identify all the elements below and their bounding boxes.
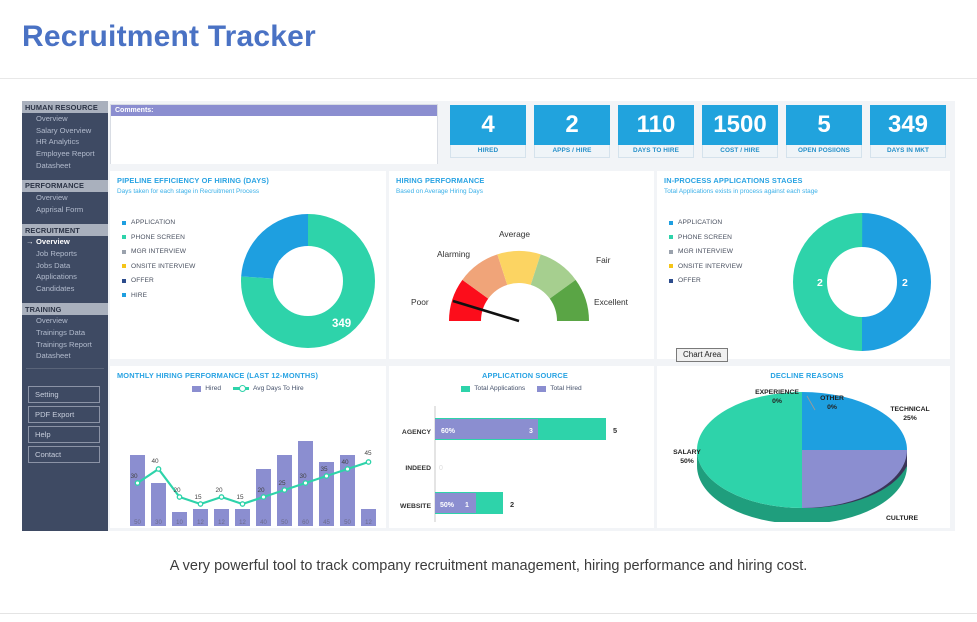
- sidebar-item-salary-overview[interactable]: Salary Overview: [22, 125, 108, 137]
- panel-performance-subtitle: Based on Average Hiring Days: [389, 185, 654, 195]
- legend-label-hired: Hired: [205, 385, 221, 392]
- svg-text:45: 45: [364, 450, 372, 457]
- pipeline-value-110: 110: [278, 259, 297, 271]
- panel-pipeline-title: PIPELINE EFFICIENCY OF HIRING (DAYS): [110, 171, 386, 185]
- legend-label-total-hired: Total Hired: [550, 385, 582, 392]
- svg-text:30: 30: [130, 473, 138, 480]
- legend-label-offer: OFFER: [678, 277, 701, 284]
- sidebar-item-trainings-data[interactable]: Trainings Data: [22, 327, 108, 339]
- legend-label-offer: OFFER: [131, 277, 154, 284]
- panel-monthly-hiring: MONTHLY HIRING PERFORMANCE (LAST 12-MONT…: [110, 366, 386, 528]
- sidebar-item-employee-report[interactable]: Employee Report: [22, 148, 108, 160]
- legend-label-mgr-interview: MGR INTERVIEW: [131, 248, 186, 255]
- pie-label-experience: EXPERIENCE: [755, 389, 799, 396]
- panel-application-source: APPLICATION SOURCE Total Applications To…: [389, 366, 654, 528]
- legend-swatch-hired: [192, 386, 201, 392]
- svg-text:25: 25: [278, 480, 286, 487]
- legend-label-onsite-interview: ONSITE INTERVIEW: [678, 263, 743, 270]
- contact-button[interactable]: Contact: [28, 446, 100, 463]
- svg-text:12: 12: [239, 520, 246, 526]
- sidebar-item-trainings-report[interactable]: Trainings Report: [22, 338, 108, 350]
- sidebar-item-apprisal-form[interactable]: Apprisal Form: [22, 204, 108, 216]
- legend-label-onsite-interview: ONSITE INTERVIEW: [131, 263, 196, 270]
- sidebar-item-hr-datasheet[interactable]: Datasheet: [22, 159, 108, 171]
- svg-text:15: 15: [194, 494, 202, 501]
- kpi-apps-per-hire-label: APPS / HIRE: [534, 145, 610, 158]
- pie-label-salary: SALARY: [673, 449, 701, 456]
- svg-text:20: 20: [173, 487, 181, 494]
- svg-text:40: 40: [151, 458, 159, 465]
- kpi-apps-per-hire: 2 APPS / HIRE: [534, 105, 610, 165]
- legend-swatch-total-applications: [461, 386, 470, 392]
- sidebar-item-hr-analytics[interactable]: HR Analytics: [22, 136, 108, 148]
- monthly-combo-chart: 5030 1012 1212 4050 6045 5012: [110, 404, 386, 528]
- kpi-cost-per-hire: 1500 COST / HIRE: [702, 105, 778, 165]
- footer-divider: [0, 613, 977, 614]
- kpi-days-in-mkt-value: 349: [870, 105, 946, 145]
- monthly-legend: Hired Avg Days To Hire: [110, 385, 386, 392]
- application-source-chart: AGENCY 60% 3 5 INDEED 0 WEBSITE 50% 1 2: [389, 400, 654, 528]
- kpi-open-positions: 5 OPEN POSIIONS: [786, 105, 862, 165]
- legend-label-hire: HIRE: [131, 292, 147, 299]
- legend-swatch-mgr-interview: [669, 250, 673, 254]
- source-category-website: WEBSITE: [400, 503, 431, 510]
- legend-item-application: APPLICATION: [122, 219, 196, 226]
- inprocess-legend: APPLICATION PHONE SCREEN MGR INTERVIEW O…: [669, 219, 743, 292]
- legend-item-mgr-interview: MGR INTERVIEW: [122, 248, 196, 255]
- gauge-label-poor: Poor: [411, 297, 429, 307]
- pie-slice-culture: [802, 450, 907, 508]
- inprocess-value-left: 2: [817, 277, 823, 289]
- monthly-bars: [130, 441, 376, 526]
- source-legend: Total Applications Total Hired: [389, 385, 654, 392]
- legend-swatch-mgr-interview: [122, 250, 126, 254]
- legend-item-offer: OFFER: [669, 277, 743, 284]
- gauge-label-average: Average: [499, 229, 530, 239]
- panel-inprocess-stages: IN-PROCESS APPLICATIONS STAGES Total App…: [657, 171, 950, 359]
- chart-area-tooltip: Chart Area: [676, 348, 728, 362]
- legend-swatch-total-hired: [537, 386, 546, 392]
- legend-item-offer: OFFER: [122, 277, 196, 284]
- legend-item-hired: Hired: [192, 385, 221, 392]
- sidebar-item-jobs-data[interactable]: Jobs Data: [22, 259, 108, 271]
- svg-text:45: 45: [323, 520, 330, 526]
- pipeline-legend: APPLICATION PHONE SCREEN MGR INTERVIEW O…: [122, 219, 196, 306]
- svg-text:12: 12: [365, 520, 372, 526]
- gauge-label-fair: Fair: [596, 255, 611, 265]
- footer-caption: A very powerful tool to track company re…: [0, 558, 977, 574]
- kpi-hired-value: 4: [450, 105, 526, 145]
- svg-text:30: 30: [155, 520, 162, 526]
- kpi-hired: 4 HIRED: [450, 105, 526, 165]
- source-total-website: 2: [510, 500, 514, 509]
- panel-decline-title: DECLINE REASONS: [657, 366, 950, 380]
- monthly-trend-points: [135, 460, 370, 506]
- inprocess-value-right: 2: [902, 277, 908, 289]
- sidebar-item-recruitment-overview[interactable]: Overview: [22, 236, 108, 248]
- sidebar-item-performance-overview[interactable]: Overview: [22, 192, 108, 204]
- pipeline-value-349: 349: [332, 318, 351, 330]
- legend-label-avg-days: Avg Days To Hire: [253, 385, 304, 392]
- panel-pipeline-efficiency: PIPELINE EFFICIENCY OF HIRING (DAYS) Day…: [110, 171, 386, 359]
- sidebar-group-human-resource: HUMAN RESOURCE Overview Salary Overview …: [22, 101, 108, 171]
- pie-pct-salary: 50%: [680, 458, 694, 465]
- kpi-apps-per-hire-value: 2: [534, 105, 610, 145]
- legend-item-total-hired: Total Hired: [537, 385, 582, 392]
- sidebar-heading-recruitment: RECRUITMENT: [22, 224, 108, 236]
- legend-item-onsite-interview: ONSITE INTERVIEW: [122, 263, 196, 270]
- legend-item-hire: HIRE: [122, 292, 196, 299]
- legend-swatch-phone-screen: [122, 235, 126, 239]
- sidebar-item-hr-overview[interactable]: Overview: [22, 113, 108, 125]
- pie-pct-other: 0%: [827, 404, 837, 411]
- svg-text:40: 40: [260, 520, 267, 526]
- source-pct-website: 50%: [440, 502, 455, 509]
- svg-text:20: 20: [215, 487, 223, 494]
- pipeline-donut-chart: 110 349: [228, 209, 388, 354]
- sidebar-spacer-1: [22, 171, 108, 180]
- pie-pct-technical: 25%: [903, 415, 917, 422]
- legend-swatch-application: [669, 221, 673, 225]
- sidebar-heading-human-resource: HUMAN RESOURCE: [22, 101, 108, 113]
- panel-hiring-performance: HIRING PERFORMANCE Based on Average Hiri…: [389, 171, 654, 359]
- legend-label-total-applications: Total Applications: [474, 385, 525, 392]
- legend-swatch-application: [122, 221, 126, 225]
- pie-pct-experience: 0%: [772, 398, 782, 405]
- legend-swatch-hire: [122, 293, 126, 297]
- gauge-label-excellent: Excellent: [594, 297, 629, 307]
- kpi-days-to-hire-value: 110: [618, 105, 694, 145]
- svg-text:50: 50: [134, 520, 141, 526]
- source-hired-website: 1: [465, 502, 469, 509]
- panel-performance-title: HIRING PERFORMANCE: [389, 171, 654, 185]
- pie-label-culture: CULTURE: [886, 515, 918, 522]
- kpi-hired-label: HIRED: [450, 145, 526, 158]
- kpi-cost-per-hire-value: 1500: [702, 105, 778, 145]
- kpi-days-in-mkt: 349 DAYS IN MKT: [870, 105, 946, 165]
- svg-text:50: 50: [281, 520, 288, 526]
- sidebar-spacer-3: [22, 294, 108, 303]
- comments-input[interactable]: [111, 116, 437, 164]
- panel-inprocess-subtitle: Total Applications exists in process aga…: [657, 185, 950, 195]
- legend-label-application: APPLICATION: [678, 219, 722, 226]
- kpi-open-positions-label: OPEN POSIIONS: [786, 145, 862, 158]
- pdf-export-button[interactable]: PDF Export: [28, 406, 100, 423]
- kpi-days-to-hire: 110 DAYS TO HIRE: [618, 105, 694, 165]
- sidebar-group-training: TRAINING Overview Trainings Data Trainin…: [22, 303, 108, 361]
- hiring-performance-gauge: Poor Alarming Average Fair Excellent: [389, 201, 654, 351]
- inprocess-donut-chart: 2 2: [777, 207, 947, 357]
- svg-text:20: 20: [257, 487, 265, 494]
- source-category-indeed: INDEED: [405, 465, 431, 472]
- source-total-agency: 5: [613, 426, 617, 435]
- panel-pipeline-subtitle: Days taken for each stage in Recruitment…: [110, 185, 386, 195]
- pie-label-other: OTHER: [820, 395, 844, 402]
- legend-item-phone-screen: PHONE SCREEN: [669, 234, 743, 241]
- kpi-cost-per-hire-label: COST / HIRE: [702, 145, 778, 158]
- sidebar-item-training-overview[interactable]: Overview: [22, 315, 108, 327]
- pie-label-technical: TECHNICAL: [890, 406, 929, 413]
- sidebar-divider: [26, 368, 104, 369]
- svg-text:12: 12: [197, 520, 204, 526]
- sidebar-item-job-reports[interactable]: Job Reports: [22, 248, 108, 260]
- kpi-row: 4 HIRED 2 APPS / HIRE 110 DAYS TO HIRE 1…: [450, 105, 950, 165]
- help-button[interactable]: Help: [28, 426, 100, 443]
- source-pct-agency: 60%: [441, 428, 456, 435]
- sidebar-group-performance: PERFORMANCE Overview Apprisal Form: [22, 180, 108, 215]
- legend-label-phone-screen: PHONE SCREEN: [131, 234, 185, 241]
- legend-item-application: APPLICATION: [669, 219, 743, 226]
- kpi-days-to-hire-label: DAYS TO HIRE: [618, 145, 694, 158]
- legend-item-mgr-interview: MGR INTERVIEW: [669, 248, 743, 255]
- legend-item-avg-days: Avg Days To Hire: [233, 385, 304, 392]
- legend-label-application: APPLICATION: [131, 219, 175, 226]
- legend-swatch-phone-screen: [669, 235, 673, 239]
- svg-text:10: 10: [176, 520, 183, 526]
- title-bar: Recruitment Tracker: [0, 0, 977, 79]
- svg-text:12: 12: [218, 520, 225, 526]
- sidebar-spacer-2: [22, 215, 108, 224]
- setting-button[interactable]: Setting: [28, 386, 100, 403]
- sidebar-heading-training: TRAINING: [22, 303, 108, 315]
- legend-swatch-avg-days: [233, 387, 249, 390]
- gauge-label-alarming: Alarming: [437, 249, 470, 259]
- legend-item-phone-screen: PHONE SCREEN: [122, 234, 196, 241]
- sidebar-item-candidates[interactable]: Candidates: [22, 283, 108, 295]
- monthly-bar-labels: 5030 1012 1212 4050 6045 5012: [134, 520, 372, 526]
- svg-text:35: 35: [320, 466, 328, 473]
- title-divider: [0, 78, 977, 79]
- legend-item-total-applications: Total Applications: [461, 385, 525, 392]
- source-total-indeed: 0: [439, 465, 443, 472]
- legend-swatch-onsite-interview: [122, 264, 126, 268]
- panel-inprocess-title: IN-PROCESS APPLICATIONS STAGES: [657, 171, 950, 185]
- panel-source-title: APPLICATION SOURCE: [389, 366, 654, 380]
- sidebar-item-applications[interactable]: Applications: [22, 271, 108, 283]
- legend-label-mgr-interview: MGR INTERVIEW: [678, 248, 733, 255]
- pie-slice-technical: [802, 392, 907, 450]
- sidebar-heading-performance: PERFORMANCE: [22, 180, 108, 192]
- comments-box[interactable]: Comments:: [110, 104, 438, 164]
- legend-item-onsite-interview: ONSITE INTERVIEW: [669, 263, 743, 270]
- panel-monthly-title: MONTHLY HIRING PERFORMANCE (LAST 12-MONT…: [110, 366, 386, 380]
- comments-label: Comments:: [111, 105, 437, 116]
- dashboard-page: Recruitment Tracker HUMAN RESOURCE Overv…: [0, 0, 977, 622]
- kpi-open-positions-value: 5: [786, 105, 862, 145]
- legend-swatch-offer: [122, 279, 126, 283]
- svg-text:30: 30: [299, 473, 307, 480]
- svg-text:40: 40: [341, 459, 349, 466]
- source-category-agency: AGENCY: [402, 429, 432, 436]
- legend-swatch-offer: [669, 279, 673, 283]
- legend-swatch-onsite-interview: [669, 264, 673, 268]
- sidebar-group-recruitment: RECRUITMENT Overview Job Reports Jobs Da…: [22, 224, 108, 294]
- svg-text:60: 60: [302, 520, 309, 526]
- sidebar-item-training-datasheet[interactable]: Datasheet: [22, 350, 108, 362]
- monthly-line-labels: 3040 2015 2015 2025 3035 4045: [130, 450, 372, 501]
- kpi-days-in-mkt-label: DAYS IN MKT: [870, 145, 946, 158]
- svg-text:15: 15: [236, 494, 244, 501]
- panel-decline-reasons: DECLINE REASONS EXPERIENCE 0% OTHER 0% T…: [657, 366, 950, 528]
- dashboard-canvas: HUMAN RESOURCE Overview Salary Overview …: [22, 101, 955, 531]
- svg-text:50: 50: [344, 520, 351, 526]
- sidebar: HUMAN RESOURCE Overview Salary Overview …: [22, 101, 108, 531]
- legend-label-phone-screen: PHONE SCREEN: [678, 234, 732, 241]
- page-title: Recruitment Tracker: [22, 20, 316, 54]
- source-hired-agency: 3: [529, 428, 533, 435]
- decline-reasons-pie: EXPERIENCE 0% OTHER 0% TECHNICAL 25% SAL…: [657, 382, 950, 522]
